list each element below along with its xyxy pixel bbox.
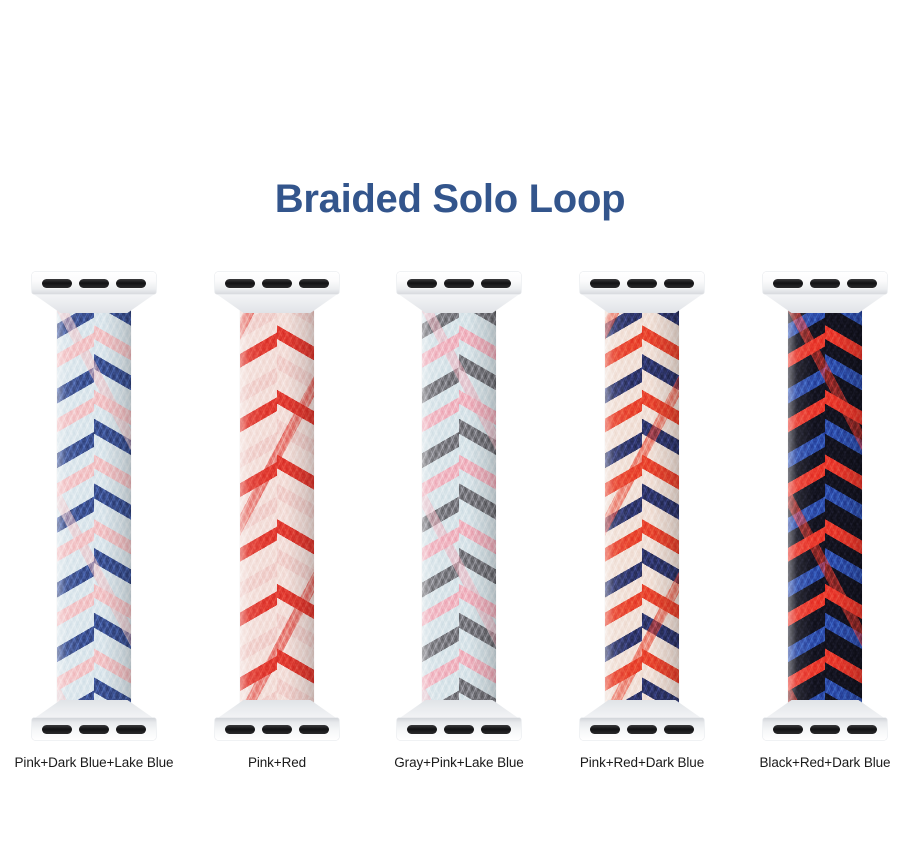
product-item[interactable]: Pink+Red+Dark Blue — [552, 268, 732, 788]
lug-slot-icon — [79, 725, 109, 734]
lug-slot-icon — [444, 725, 474, 734]
product-color-label: Gray+Pink+Lake Blue — [369, 755, 549, 770]
product-item[interactable]: Pink+Dark Blue+Lake Blue — [4, 268, 184, 788]
band-connector-top — [32, 272, 156, 312]
lug-slots — [773, 278, 877, 288]
lug-slots — [225, 278, 329, 288]
lug-neck-icon — [763, 293, 887, 313]
product-color-label: Black+Red+Dark Blue — [735, 755, 900, 770]
lug-slots — [773, 724, 877, 734]
lug-neck-icon — [32, 700, 156, 720]
lug-slot-icon — [116, 279, 146, 288]
lug-slot-icon — [810, 279, 840, 288]
lug-slot-icon — [42, 725, 72, 734]
lug-slot-icon — [262, 725, 292, 734]
lug-slot-icon — [79, 279, 109, 288]
band-connector-bottom — [215, 700, 339, 740]
lug-slots — [590, 278, 694, 288]
braided-band — [57, 305, 131, 717]
lug-slots — [407, 724, 511, 734]
band-connector-top — [215, 272, 339, 312]
band-shading — [422, 305, 496, 717]
lug-slot-icon — [225, 279, 255, 288]
lug-neck-icon — [580, 293, 704, 313]
lug-slot-icon — [590, 725, 620, 734]
product-item[interactable]: Pink+Red — [187, 268, 367, 788]
lug-neck-icon — [397, 293, 521, 313]
lug-slot-icon — [773, 279, 803, 288]
lug-slot-icon — [407, 725, 437, 734]
lug-slots — [42, 278, 146, 288]
lug-slot-icon — [407, 279, 437, 288]
lug-slot-icon — [225, 725, 255, 734]
lug-slot-icon — [590, 279, 620, 288]
lug-neck-icon — [580, 700, 704, 720]
band-connector-bottom — [580, 700, 704, 740]
lug-slot-icon — [627, 725, 657, 734]
braided-band — [240, 305, 314, 717]
band-connector-bottom — [763, 700, 887, 740]
product-item[interactable]: Gray+Pink+Lake Blue — [369, 268, 549, 788]
band-shading — [240, 305, 314, 717]
page-title: Braided Solo Loop — [0, 177, 900, 221]
lug-slots — [407, 278, 511, 288]
band-connector-top — [763, 272, 887, 312]
product-color-label: Pink+Red — [187, 755, 367, 770]
braided-band — [605, 305, 679, 717]
lug-slots — [225, 724, 329, 734]
lug-slot-icon — [664, 279, 694, 288]
lug-slot-icon — [42, 279, 72, 288]
lug-slot-icon — [481, 725, 511, 734]
band-shading — [57, 305, 131, 717]
lug-neck-icon — [32, 293, 156, 313]
lug-neck-icon — [397, 700, 521, 720]
lug-slot-icon — [773, 725, 803, 734]
lug-slot-icon — [262, 279, 292, 288]
lug-slot-icon — [444, 279, 474, 288]
band-connector-bottom — [397, 700, 521, 740]
lug-slot-icon — [847, 725, 877, 734]
lug-slot-icon — [481, 279, 511, 288]
braided-band — [788, 305, 862, 717]
lug-slots — [590, 724, 694, 734]
lug-slot-icon — [664, 725, 694, 734]
lug-slot-icon — [627, 279, 657, 288]
band-connector-top — [397, 272, 521, 312]
product-gallery: Pink+Dark Blue+Lake BluePink+RedGray+Pin… — [0, 268, 900, 788]
lug-slot-icon — [847, 279, 877, 288]
band-shading — [788, 305, 862, 717]
lug-slot-icon — [116, 725, 146, 734]
product-color-label: Pink+Dark Blue+Lake Blue — [4, 755, 184, 770]
lug-neck-icon — [215, 293, 339, 313]
lug-slots — [42, 724, 146, 734]
band-shading — [605, 305, 679, 717]
braided-band — [422, 305, 496, 717]
band-connector-bottom — [32, 700, 156, 740]
lug-neck-icon — [763, 700, 887, 720]
lug-slot-icon — [299, 725, 329, 734]
product-item[interactable]: Black+Red+Dark Blue — [735, 268, 900, 788]
lug-neck-icon — [215, 700, 339, 720]
band-connector-top — [580, 272, 704, 312]
lug-slot-icon — [810, 725, 840, 734]
product-color-label: Pink+Red+Dark Blue — [552, 755, 732, 770]
lug-slot-icon — [299, 279, 329, 288]
